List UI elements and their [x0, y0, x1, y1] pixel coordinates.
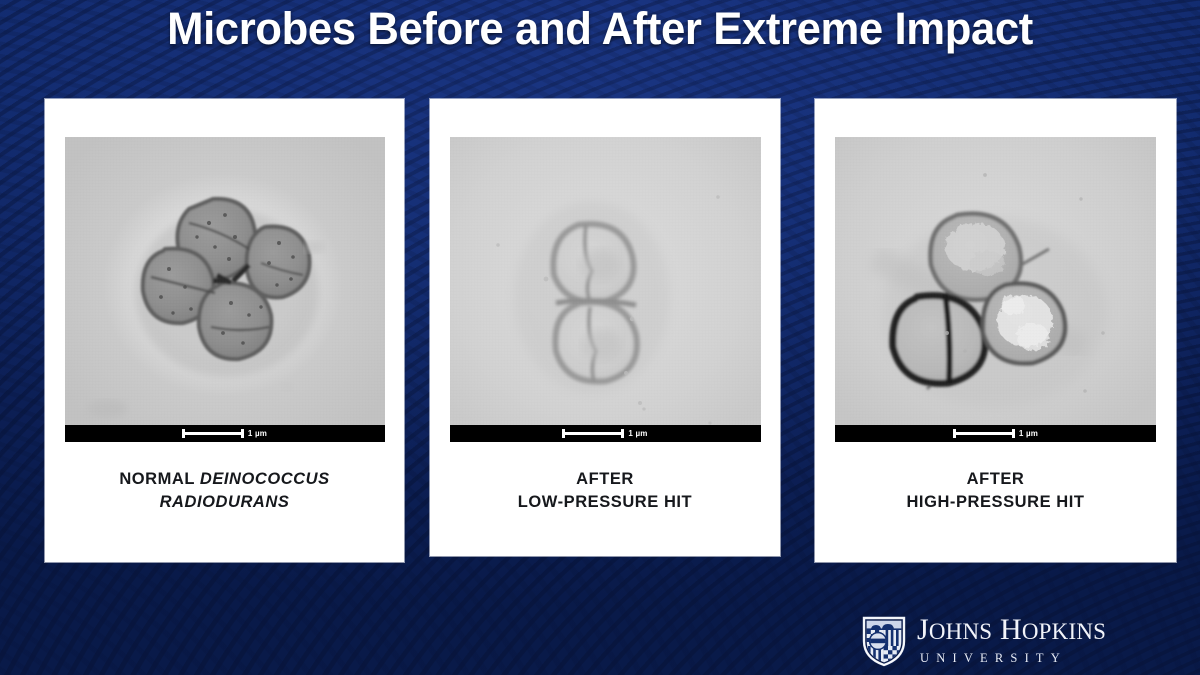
caption-line-1: AFTER [967, 470, 1025, 488]
scale-bar-label: 1 µm [628, 430, 647, 438]
scale-bar-high-pressure: 1 µm [835, 425, 1156, 442]
jhu-shield-icon [862, 615, 906, 667]
micrograph-low-pressure-image [450, 137, 761, 442]
micrograph-high-pressure: 1 µm [835, 137, 1156, 442]
micrograph-normal: 1 µm [65, 137, 385, 442]
caption-prefix: NORMAL [119, 470, 200, 488]
panel-caption-high-pressure: AFTER HIGH-PRESSURE HIT [815, 468, 1176, 514]
caption-line-2: LOW-PRESSURE HIT [518, 493, 692, 511]
panel-row: 1 µm NORMAL DEINOCOCCUS RADIODURANS [45, 99, 1176, 569]
slide-root: Microbes Before and After Extreme Impact [0, 0, 1200, 675]
caption-line-2: HIGH-PRESSURE HIT [906, 493, 1084, 511]
panel-normal: 1 µm NORMAL DEINOCOCCUS RADIODURANS [45, 99, 404, 562]
panel-high-pressure: 1 µm AFTER HIGH-PRESSURE HIT [815, 99, 1176, 562]
panel-caption-normal: NORMAL DEINOCOCCUS RADIODURANS [45, 468, 404, 514]
jhu-name-opkins: OPKINS [1022, 619, 1106, 644]
jhu-name-j: J [917, 613, 929, 646]
jhu-name-h: H [1000, 613, 1022, 646]
micrograph-normal-image [65, 137, 385, 442]
scale-bar-line [562, 432, 624, 435]
scale-bar-label: 1 µm [248, 430, 267, 438]
caption-line-1: AFTER [576, 470, 634, 488]
jhu-name-ohns: OHNS [929, 619, 992, 644]
micrograph-low-pressure: 1 µm [450, 137, 761, 442]
jhu-wordmark: JOHNS HOPKINS UNIVERSITY [917, 615, 1106, 667]
caption-species-epithet: RADIODURANS [160, 493, 290, 511]
scale-bar-normal: 1 µm [65, 425, 385, 442]
scale-bar-low-pressure: 1 µm [450, 425, 761, 442]
panel-caption-low-pressure: AFTER LOW-PRESSURE HIT [430, 468, 780, 514]
panel-low-pressure: 1 µm AFTER LOW-PRESSURE HIT [430, 99, 780, 556]
slide-title: Microbes Before and After Extreme Impact [18, 2, 1182, 56]
scale-bar-line [182, 432, 244, 435]
caption-species-genus: DEINOCOCCUS [200, 470, 330, 488]
jhu-subtitle: UNIVERSITY [917, 649, 1106, 667]
micrograph-high-pressure-image [835, 137, 1156, 442]
jhu-name: JOHNS HOPKINS [917, 615, 1106, 647]
jhu-logo: JOHNS HOPKINS UNIVERSITY [862, 612, 1142, 670]
scale-bar-label: 1 µm [1019, 430, 1038, 438]
scale-bar-line [953, 432, 1015, 435]
